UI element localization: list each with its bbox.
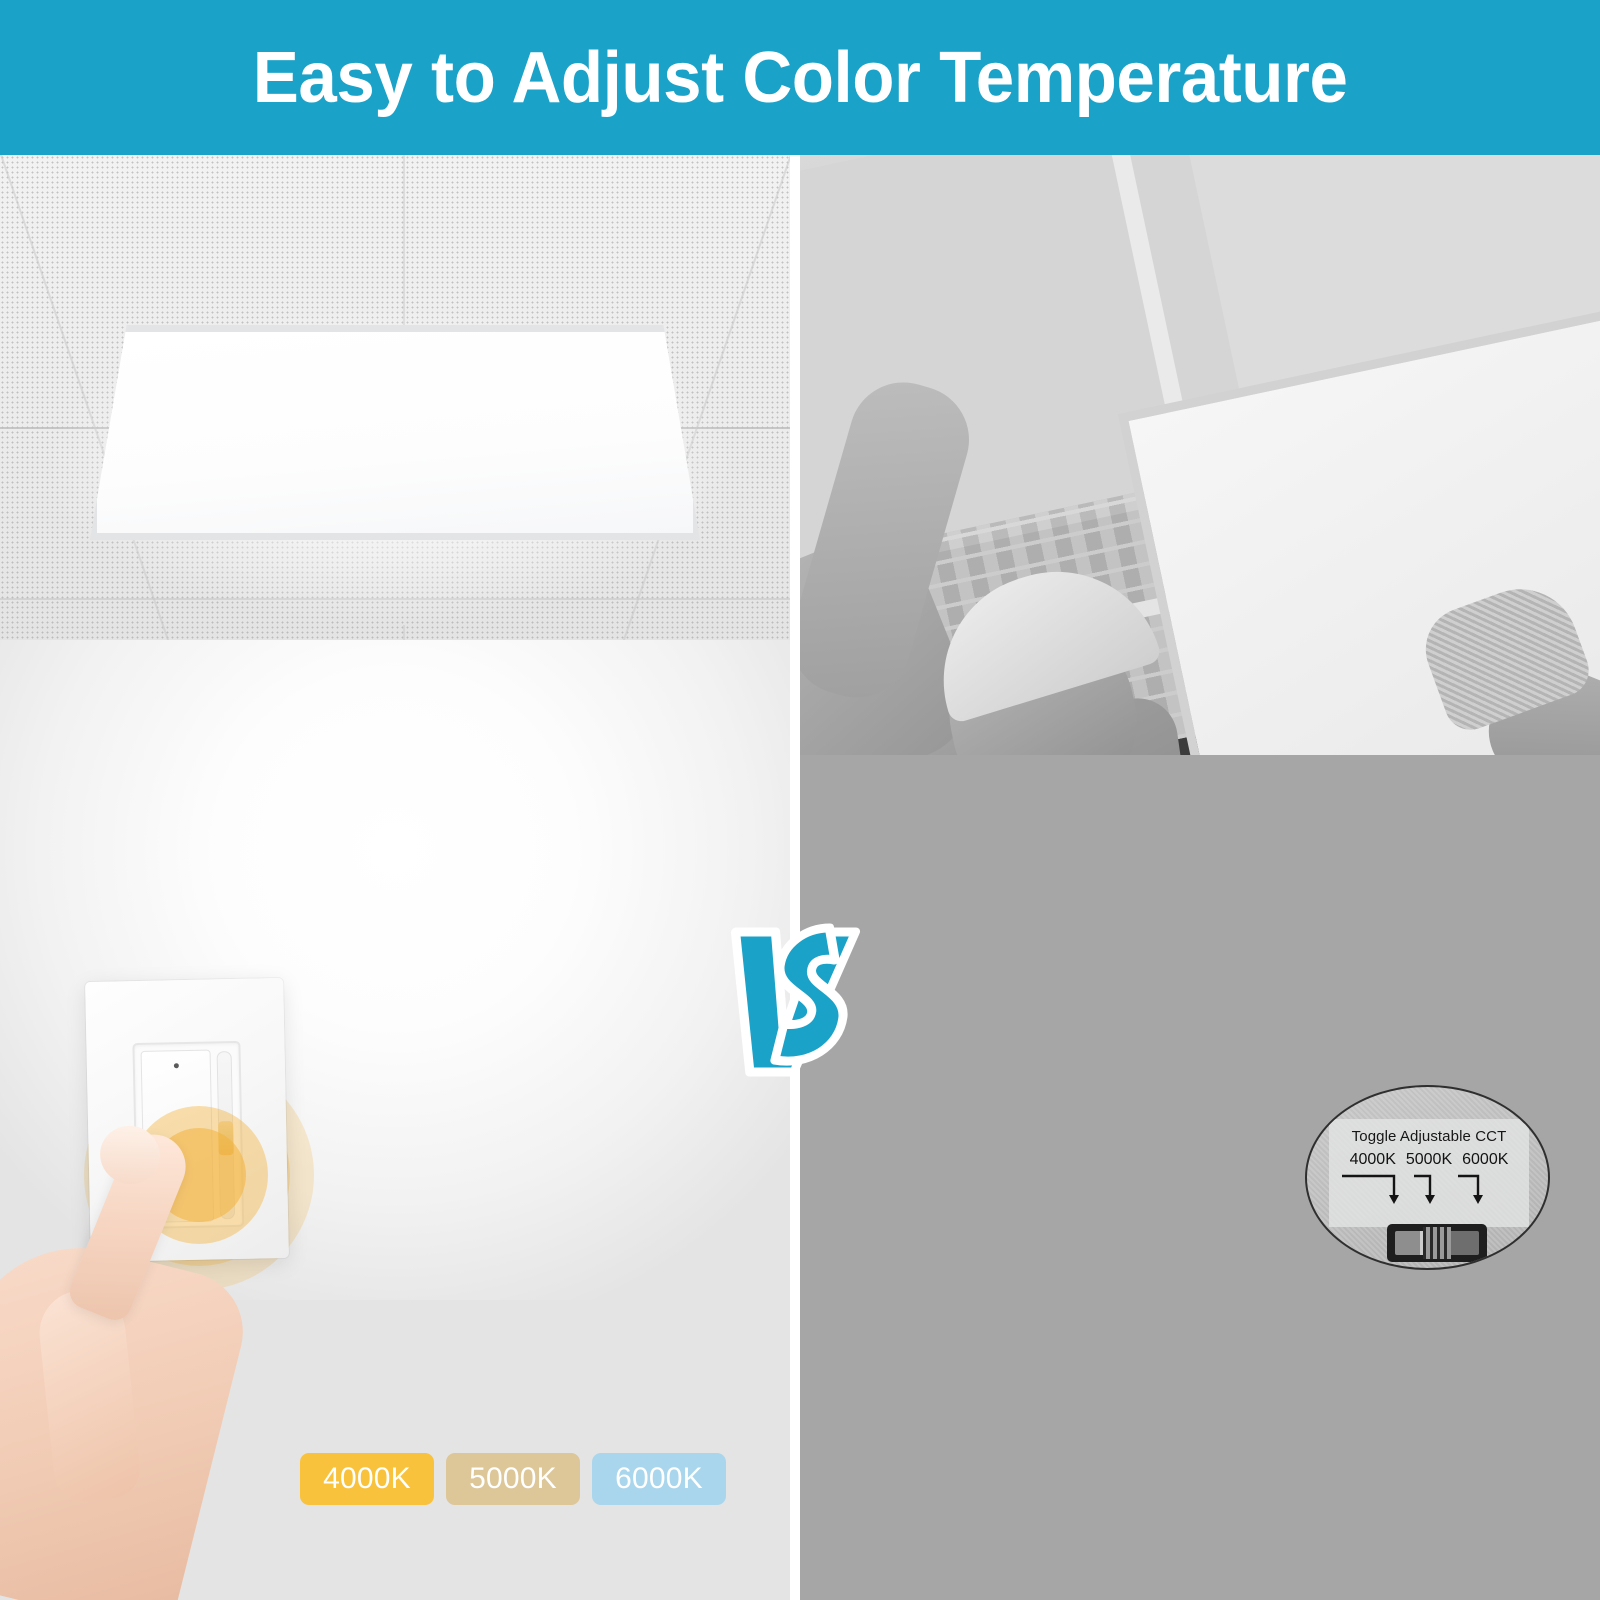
page-title: Easy to Adjust Color Temperature (253, 37, 1348, 119)
cct-badge-4000k[interactable]: 4000K (300, 1453, 434, 1505)
cct-dip-switch-callout: Toggle Adjustable CCT 4000K 5000K 6000K (1305, 1085, 1550, 1270)
wall-switch-scene: 4000K 5000K 6000K (0, 640, 790, 1600)
hand-pressing-switch (0, 1120, 250, 1600)
cct-badge-group: 4000K 5000K 6000K (300, 1453, 726, 1505)
dip-switch-icon (1387, 1224, 1487, 1262)
ceiling-grid-line-center-bottom (403, 625, 405, 640)
callout-option-4000k: 4000K (1350, 1151, 1396, 1169)
cct-badge-5000k-label: 5000K (469, 1462, 557, 1496)
dip-switch-teeth (1423, 1227, 1451, 1259)
right-panel-lower-area: Toggle Adjustable CCT 4000K 5000K 6000K (800, 755, 1600, 1600)
left-panel-our: 4000K 5000K 6000K (0, 155, 790, 1600)
switch-indicator-led-icon (173, 1063, 178, 1068)
ceiling-grid-line-horizontal-2 (0, 598, 790, 600)
vs-badge (718, 900, 878, 1080)
cct-badge-6000k-label: 6000K (615, 1462, 703, 1496)
cct-badge-4000k-label: 4000K (323, 1462, 411, 1496)
callout-option-5000k: 5000K (1406, 1151, 1452, 1169)
infographic-page: Easy to Adjust Color Temperature (0, 0, 1600, 1600)
callout-option-6000k: 6000K (1462, 1151, 1508, 1169)
header-banner: Easy to Adjust Color Temperature (0, 0, 1600, 155)
cct-badge-6000k[interactable]: 6000K (592, 1453, 726, 1505)
callout-options-row: 4000K 5000K 6000K (1350, 1151, 1509, 1169)
ceiling-photo-our (0, 155, 790, 640)
panel-divider (790, 155, 800, 1600)
technician-photo-others (800, 155, 1600, 755)
led-flat-panel-light (90, 325, 700, 540)
comparison-stage: 4000K 5000K 6000K (0, 155, 1600, 1600)
ceiling-grid-line-center-top (403, 155, 405, 335)
callout-title: Toggle Adjustable CCT (1352, 1128, 1507, 1145)
cct-badge-5000k[interactable]: 5000K (446, 1453, 580, 1505)
right-panel-others: Toggle Adjustable CCT 4000K 5000K 6000K (800, 155, 1600, 1600)
cct-dip-switch-label: Toggle Adjustable CCT 4000K 5000K 6000K (1329, 1119, 1529, 1227)
callout-arrows-icon (1336, 1171, 1522, 1207)
